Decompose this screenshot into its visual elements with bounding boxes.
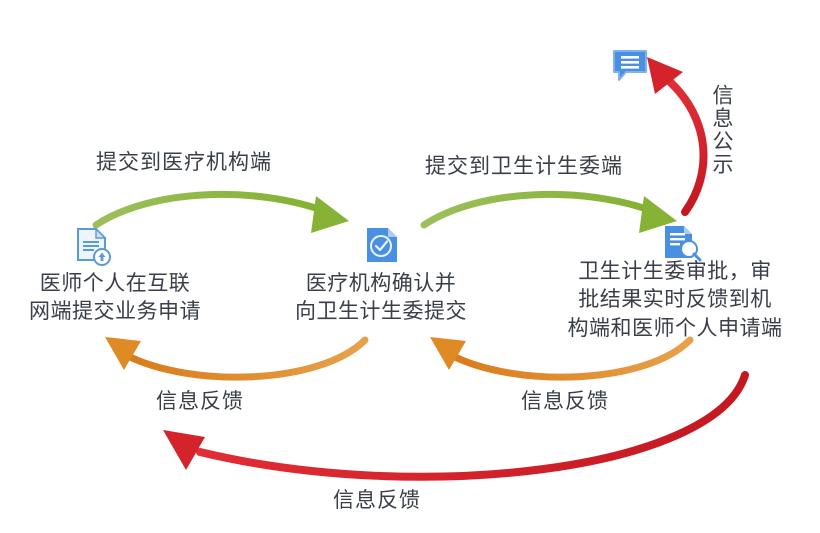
arrow-feedback-long	[163, 375, 745, 477]
arrow-label-submit-to-institution: 提交到医疗机构端	[96, 146, 272, 176]
arrow-info-publicity	[647, 57, 704, 212]
node-label-doctor: 医师个人在互联 网端提交业务申请	[0, 270, 230, 327]
document-upload-icon	[74, 226, 112, 273]
arrow-feedback-to-doctor	[105, 337, 365, 377]
arrow-label-feedback-to-institution: 信息反馈	[521, 385, 609, 415]
message-bubble-icon	[611, 48, 651, 91]
arrow-label-feedback-long: 信息反馈	[333, 484, 421, 514]
node-label-institution: 医疗机构确认并 向卫生计生委提交	[264, 270, 498, 327]
arrow-submit-to-institution	[96, 194, 349, 233]
arrow-label-feedback-to-doctor: 信息反馈	[156, 385, 244, 415]
arrow-label-info-publicity: 信息公示	[706, 84, 736, 176]
flow-diagram: 医师个人在互联 网端提交业务申请 医疗机构确认并 向卫生计生委提交 卫生计生委审…	[0, 0, 820, 533]
node-label-commission: 卫生计生委审批，审 批结果实时反馈到机 构端和医师个人申请端	[530, 258, 820, 343]
arrow-submit-to-commission	[424, 194, 677, 233]
document-check-icon	[365, 226, 399, 273]
arrow-label-submit-to-commission: 提交到卫生计生委端	[425, 150, 623, 180]
